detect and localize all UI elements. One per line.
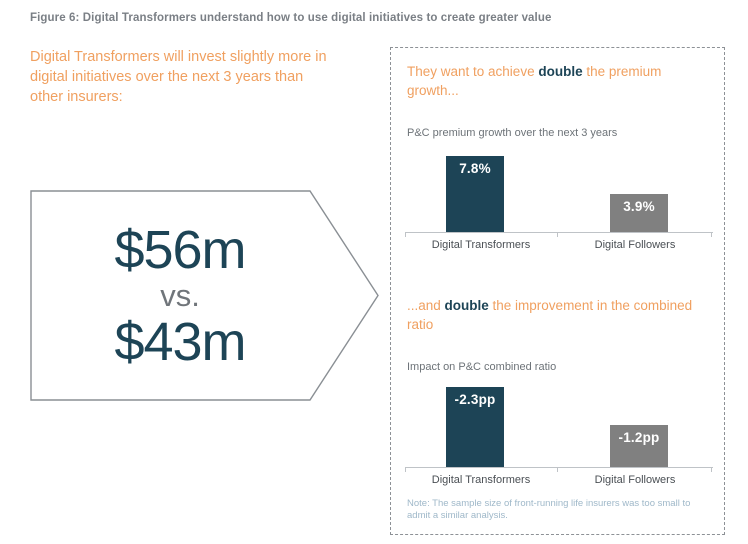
figure-title: Figure 6: Digital Transformers understan… (30, 12, 551, 24)
left-lede-text: Digital Transformers will invest slightl… (30, 47, 340, 107)
chart1-tick-start (405, 232, 406, 237)
chart2-tick-mid (557, 467, 558, 472)
callout-bottom-value: $43m (114, 314, 245, 370)
chart1-category-1: Digital Followers (559, 239, 711, 251)
chart1-bar-digital-followers: 3.9% (610, 194, 668, 232)
chart2-bar-label-1: -1.2pp (619, 430, 660, 445)
chart2-tick-end (711, 467, 712, 472)
chart2-bar-digital-followers: -1.2pp (610, 425, 668, 467)
panel-footnote: Note: The sample size of front-running l… (407, 498, 707, 522)
chart2-axis-caption: Impact on P&C combined ratio (407, 361, 556, 373)
callout-values: $56m vs. $43m (30, 190, 330, 401)
chart1-bar-digital-transformers: 7.8% (446, 156, 504, 232)
chart2-category-1: Digital Followers (559, 474, 711, 486)
callout-arrow: $56m vs. $43m (30, 190, 380, 401)
chart2-plot-area: -2.3pp -1.2pp (405, 382, 713, 467)
heading2-emphasis: double (445, 298, 489, 313)
insight-panel: They want to achieve double the premium … (390, 47, 725, 535)
chart2-tick-start (405, 467, 406, 472)
callout-top-value: $56m (114, 222, 245, 278)
chart2-bar-label-0: -2.3pp (455, 392, 496, 407)
chart2-bar-digital-transformers: -2.3pp (446, 387, 504, 467)
chart1-bar-label-1: 3.9% (623, 199, 655, 214)
chart-premium-growth: 7.8% 3.9% Digital Transformers Digital F… (405, 147, 713, 255)
heading2-before: ...and (407, 298, 445, 313)
panel-heading-combined-ratio: ...and double the improvement in the com… (407, 296, 707, 334)
chart2-category-0: Digital Transformers (405, 474, 557, 486)
heading1-emphasis: double (538, 64, 582, 79)
panel-heading-premium-growth: They want to achieve double the premium … (407, 62, 707, 100)
callout-separator: vs. (160, 278, 200, 314)
chart1-plot-area: 7.8% 3.9% (405, 147, 713, 232)
chart2-axis-line (405, 467, 713, 468)
heading1-before: They want to achieve (407, 64, 538, 79)
chart1-axis-line (405, 232, 713, 233)
chart1-tick-end (711, 232, 712, 237)
chart-combined-ratio: -2.3pp -1.2pp Digital Transformers Digit… (405, 382, 713, 490)
chart1-axis-caption: P&C premium growth over the next 3 years (407, 127, 617, 139)
chart1-bar-label-0: 7.8% (459, 161, 491, 176)
chart1-category-0: Digital Transformers (405, 239, 557, 251)
chart1-tick-mid (557, 232, 558, 237)
